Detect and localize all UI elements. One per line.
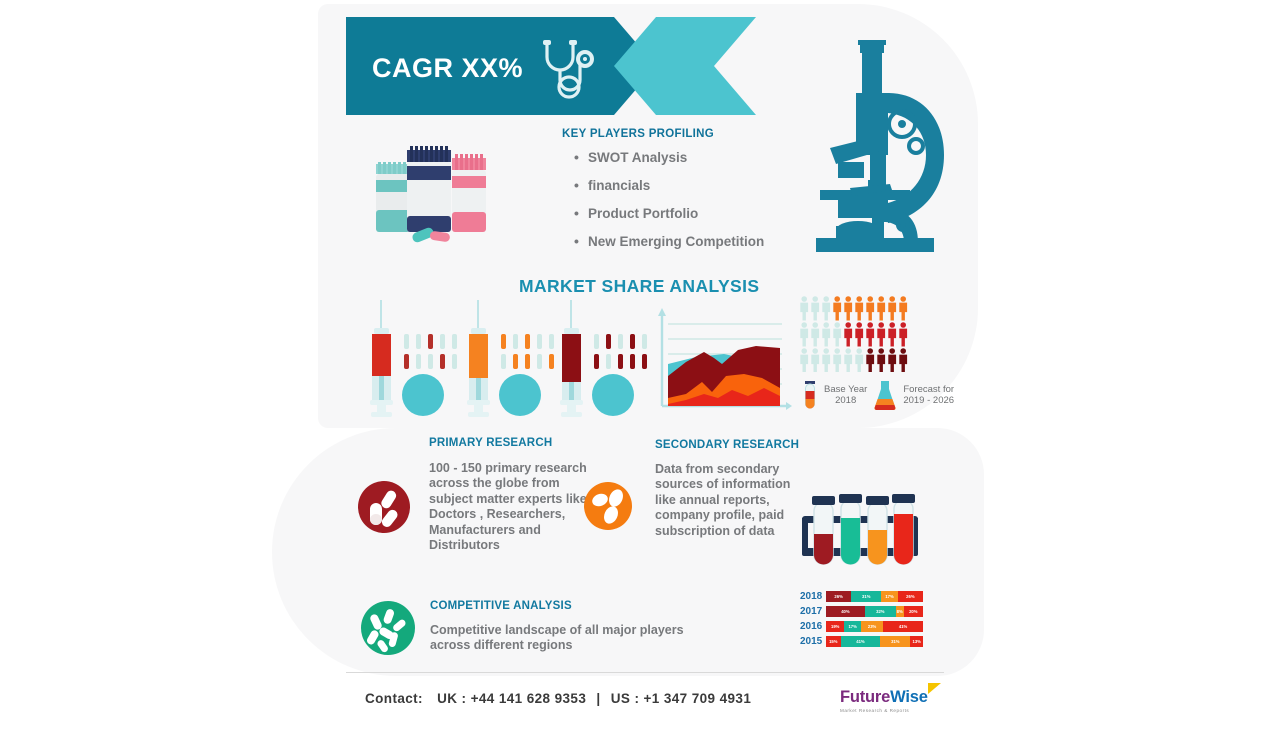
primary-research-body: 100 - 150 primary research across the gl… bbox=[429, 461, 604, 553]
year-bar-segment: 17% bbox=[844, 621, 860, 632]
stethoscope-icon bbox=[539, 39, 603, 101]
year-bar-segment: 31% bbox=[880, 636, 910, 647]
futurewise-logo[interactable]: FutureWise Market Research & Reports bbox=[840, 688, 928, 713]
market-share-title: MARKET SHARE ANALYSIS bbox=[519, 276, 759, 297]
year-bar-segment: 41% bbox=[841, 636, 881, 647]
capsules-circle-icon bbox=[358, 481, 410, 533]
year-row: 201619%17%23%41% bbox=[800, 620, 923, 633]
footer-divider bbox=[346, 672, 944, 673]
competitive-analysis-body: Competitive landscape of all major playe… bbox=[430, 623, 720, 654]
contact-label: Contact: bbox=[365, 691, 423, 706]
year-bar-segment: 13% bbox=[910, 636, 923, 647]
secondary-research-body: Data from secondary sources of informati… bbox=[655, 462, 805, 539]
year-bar-segment: 19% bbox=[826, 621, 844, 632]
key-players-list: SWOT Analysis financials Product Portfol… bbox=[572, 150, 764, 262]
year-bar-track: 19%17%23%41% bbox=[826, 621, 923, 632]
infographic-canvas: CAGR XX% KEY PLAYERS PROFILING SWOT Anal… bbox=[0, 0, 1280, 731]
legend-label-forecast: Forecast for 2019 - 2026 bbox=[903, 384, 954, 406]
microscope-icon bbox=[810, 20, 960, 258]
cagr-label: CAGR XX% bbox=[372, 53, 523, 84]
year-row: 201515%41%31%13% bbox=[800, 635, 923, 648]
contact-line: Contact: UK : +44 141 628 9353 | US : +1… bbox=[365, 691, 751, 706]
pictogram-row-1 bbox=[800, 296, 907, 320]
test-tube-icon bbox=[802, 380, 818, 410]
year-bar-segment: 40% bbox=[826, 606, 865, 617]
year-bar-segment: 8% bbox=[896, 606, 904, 617]
year-row: 201740%32%8%20% bbox=[800, 605, 923, 618]
year-label: 2017 bbox=[800, 606, 826, 617]
year-label: 2018 bbox=[800, 591, 826, 602]
area-chart bbox=[652, 302, 792, 414]
year-bar-segment: 17% bbox=[881, 591, 897, 602]
market-share-legend: Base Year 2018 Forecast for 2019 - 2026 bbox=[802, 380, 954, 410]
year-bar-segment: 41% bbox=[883, 621, 923, 632]
year-bar-segment: 31% bbox=[851, 591, 881, 602]
people-pictogram-chart bbox=[800, 296, 918, 372]
competitive-analysis-title: COMPETITIVE ANALYSIS bbox=[430, 600, 572, 612]
year-bar-segment: 15% bbox=[826, 636, 841, 647]
logo-wordmark: FutureWise bbox=[840, 688, 928, 707]
year-share-chart: 201826%31%17%26%201740%32%8%20%201619%17… bbox=[800, 590, 923, 650]
year-bar-segment: 23% bbox=[861, 621, 883, 632]
legend-label-base-year: Base Year 2018 bbox=[824, 384, 867, 406]
year-label: 2016 bbox=[800, 621, 826, 632]
pictogram-row-2 bbox=[800, 322, 907, 346]
year-bar-segment: 20% bbox=[904, 606, 923, 617]
list-item: SWOT Analysis bbox=[572, 150, 764, 165]
pills-circle-icon bbox=[584, 482, 632, 530]
syringes-icon bbox=[357, 300, 647, 418]
year-bar-segment: 26% bbox=[826, 591, 851, 602]
year-bar-track: 40%32%8%20% bbox=[826, 606, 923, 617]
year-label: 2015 bbox=[800, 636, 826, 647]
pictogram-row-3 bbox=[800, 348, 907, 372]
primary-research-title: PRIMARY RESEARCH bbox=[429, 437, 552, 449]
logo-flag-icon bbox=[928, 683, 941, 694]
year-row: 201826%31%17%26% bbox=[800, 590, 923, 603]
logo-text-wise: Wise bbox=[890, 688, 928, 706]
logo-tagline: Market Research & Reports bbox=[840, 708, 928, 713]
year-bar-track: 15%41%31%13% bbox=[826, 636, 923, 647]
contact-us: US : +1 347 709 4931 bbox=[611, 691, 751, 706]
year-bar-segment: 32% bbox=[865, 606, 896, 617]
cagr-banner: CAGR XX% bbox=[346, 17, 756, 115]
test-tubes-icon bbox=[798, 492, 922, 576]
year-bar-track: 26%31%17%26% bbox=[826, 591, 923, 602]
pill-bottles-icon bbox=[374, 140, 490, 250]
key-players-title: KEY PLAYERS PROFILING bbox=[562, 128, 714, 140]
list-item: financials bbox=[572, 178, 764, 193]
contact-uk: UK : +44 141 628 9353 bbox=[437, 691, 586, 706]
year-bar-segment: 26% bbox=[898, 591, 923, 602]
list-item: New Emerging Competition bbox=[572, 234, 764, 249]
logo-text-future: Future bbox=[840, 688, 890, 706]
list-item: Product Portfolio bbox=[572, 206, 764, 221]
secondary-research-title: SECONDARY RESEARCH bbox=[655, 439, 799, 451]
capsules-scatter-circle-icon bbox=[360, 600, 416, 656]
flask-icon bbox=[873, 380, 897, 410]
contact-separator: | bbox=[596, 691, 600, 706]
